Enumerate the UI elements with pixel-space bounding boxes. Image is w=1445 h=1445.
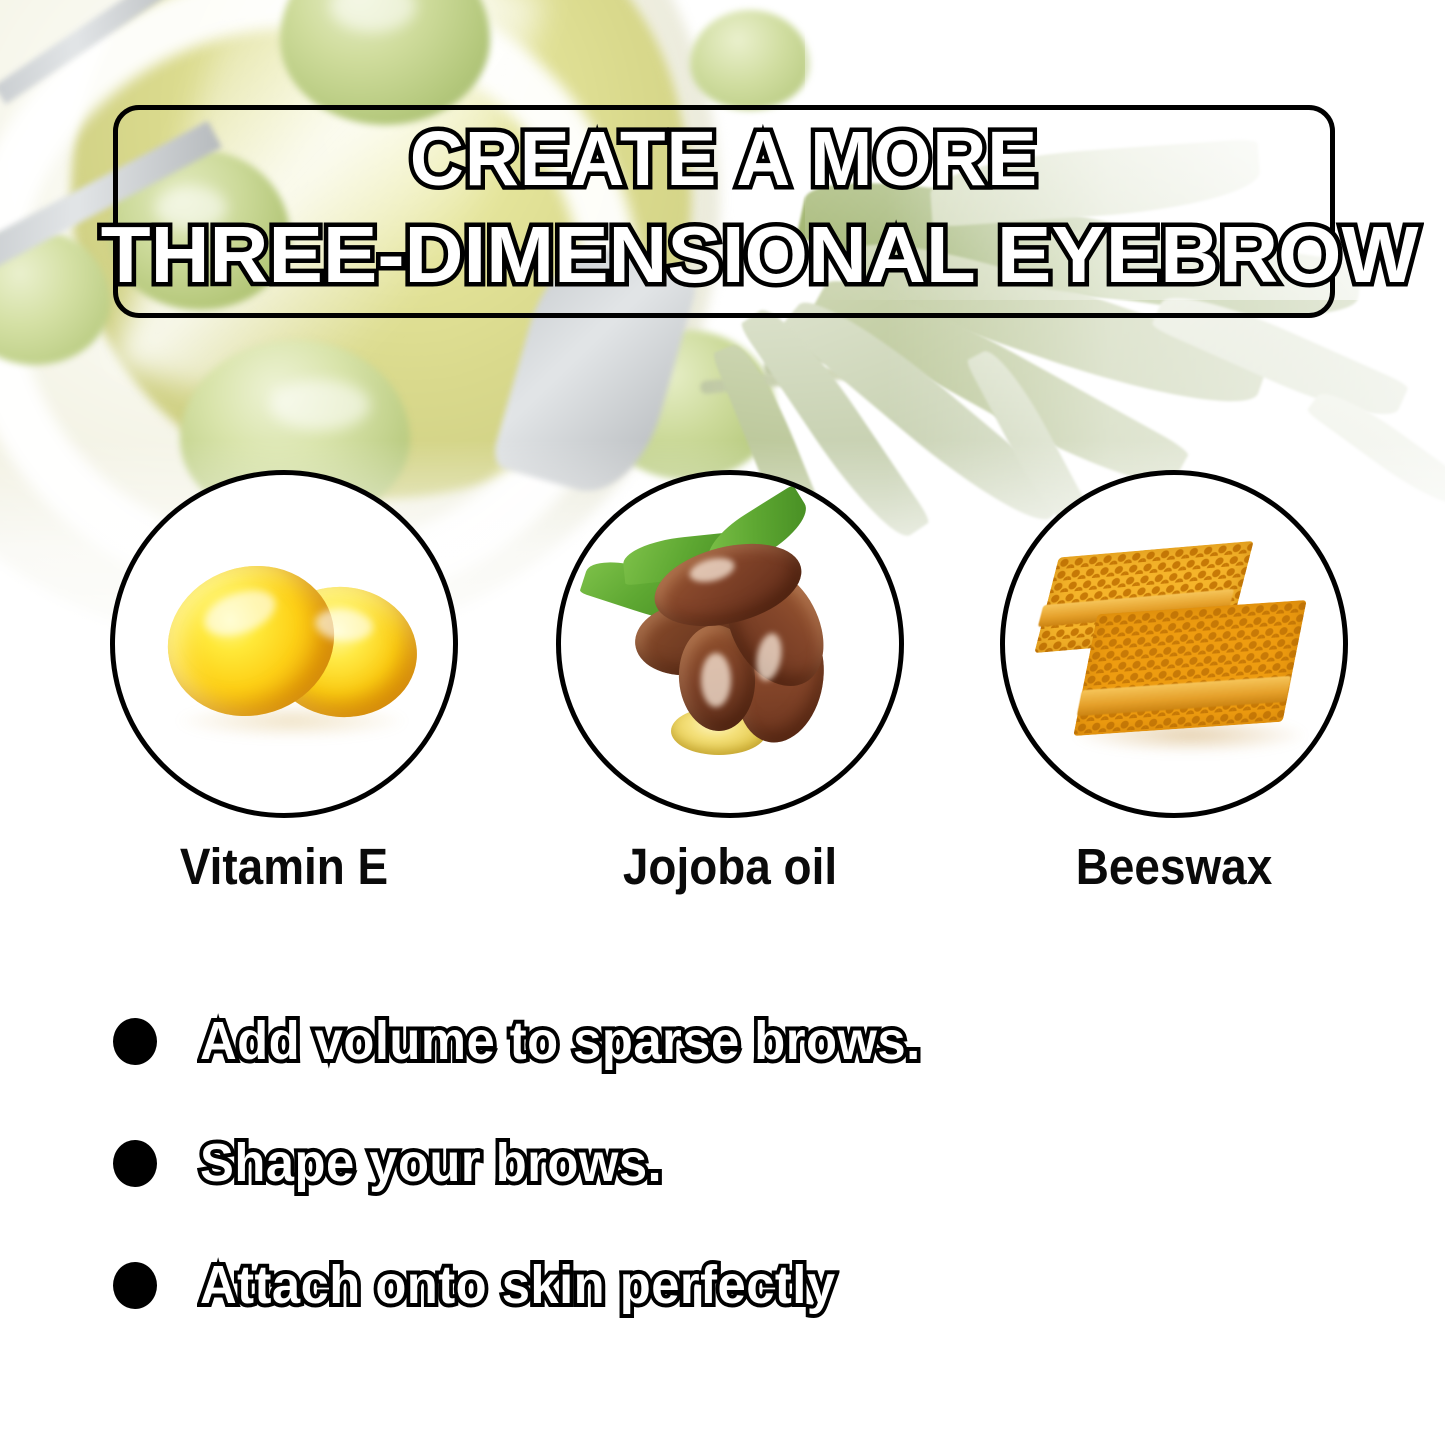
vitamin-e-image — [115, 475, 453, 813]
bullet-dot-icon — [113, 1262, 157, 1309]
benefit-item: Attach onto skin perfectly — [0, 1224, 1445, 1346]
bullet-dot-icon — [113, 1140, 157, 1187]
vitamin-e-circle-frame — [110, 470, 458, 818]
honeycomb-slab — [1073, 600, 1306, 736]
seed-highlight — [701, 653, 731, 707]
ingredient-item-vitamin-e — [110, 470, 458, 818]
benefit-text: Add volume to sparse brows. — [200, 1008, 921, 1074]
jojoba-oil-circle-frame — [556, 470, 904, 818]
ingredient-label-vitamin-e: Vitamin E — [127, 836, 440, 898]
beeswax-circle-frame — [1000, 470, 1348, 818]
benefit-item: Shape your brows. — [0, 1102, 1445, 1224]
bullet-dot-icon — [113, 1018, 157, 1065]
benefit-item: Add volume to sparse brows. — [0, 980, 1445, 1102]
ingredient-label-beeswax: Beeswax — [1017, 836, 1330, 898]
benefit-list: Add volume to sparse brows. Shape your b… — [0, 980, 1445, 1346]
benefit-text: Shape your brows. — [200, 1130, 662, 1196]
beeswax-image — [1005, 475, 1343, 813]
jojoba-oil-image — [561, 475, 899, 813]
benefit-text: Attach onto skin perfectly — [200, 1252, 836, 1318]
product-infographic: CREATE A MORE THREE-DIMENSIONAL EYEBROW — [0, 0, 1445, 1445]
ingredient-label-jojoba-oil: Jojoba oil — [573, 836, 886, 898]
ingredient-item-beeswax — [1000, 470, 1348, 818]
ingredient-item-jojoba-oil — [556, 470, 904, 818]
